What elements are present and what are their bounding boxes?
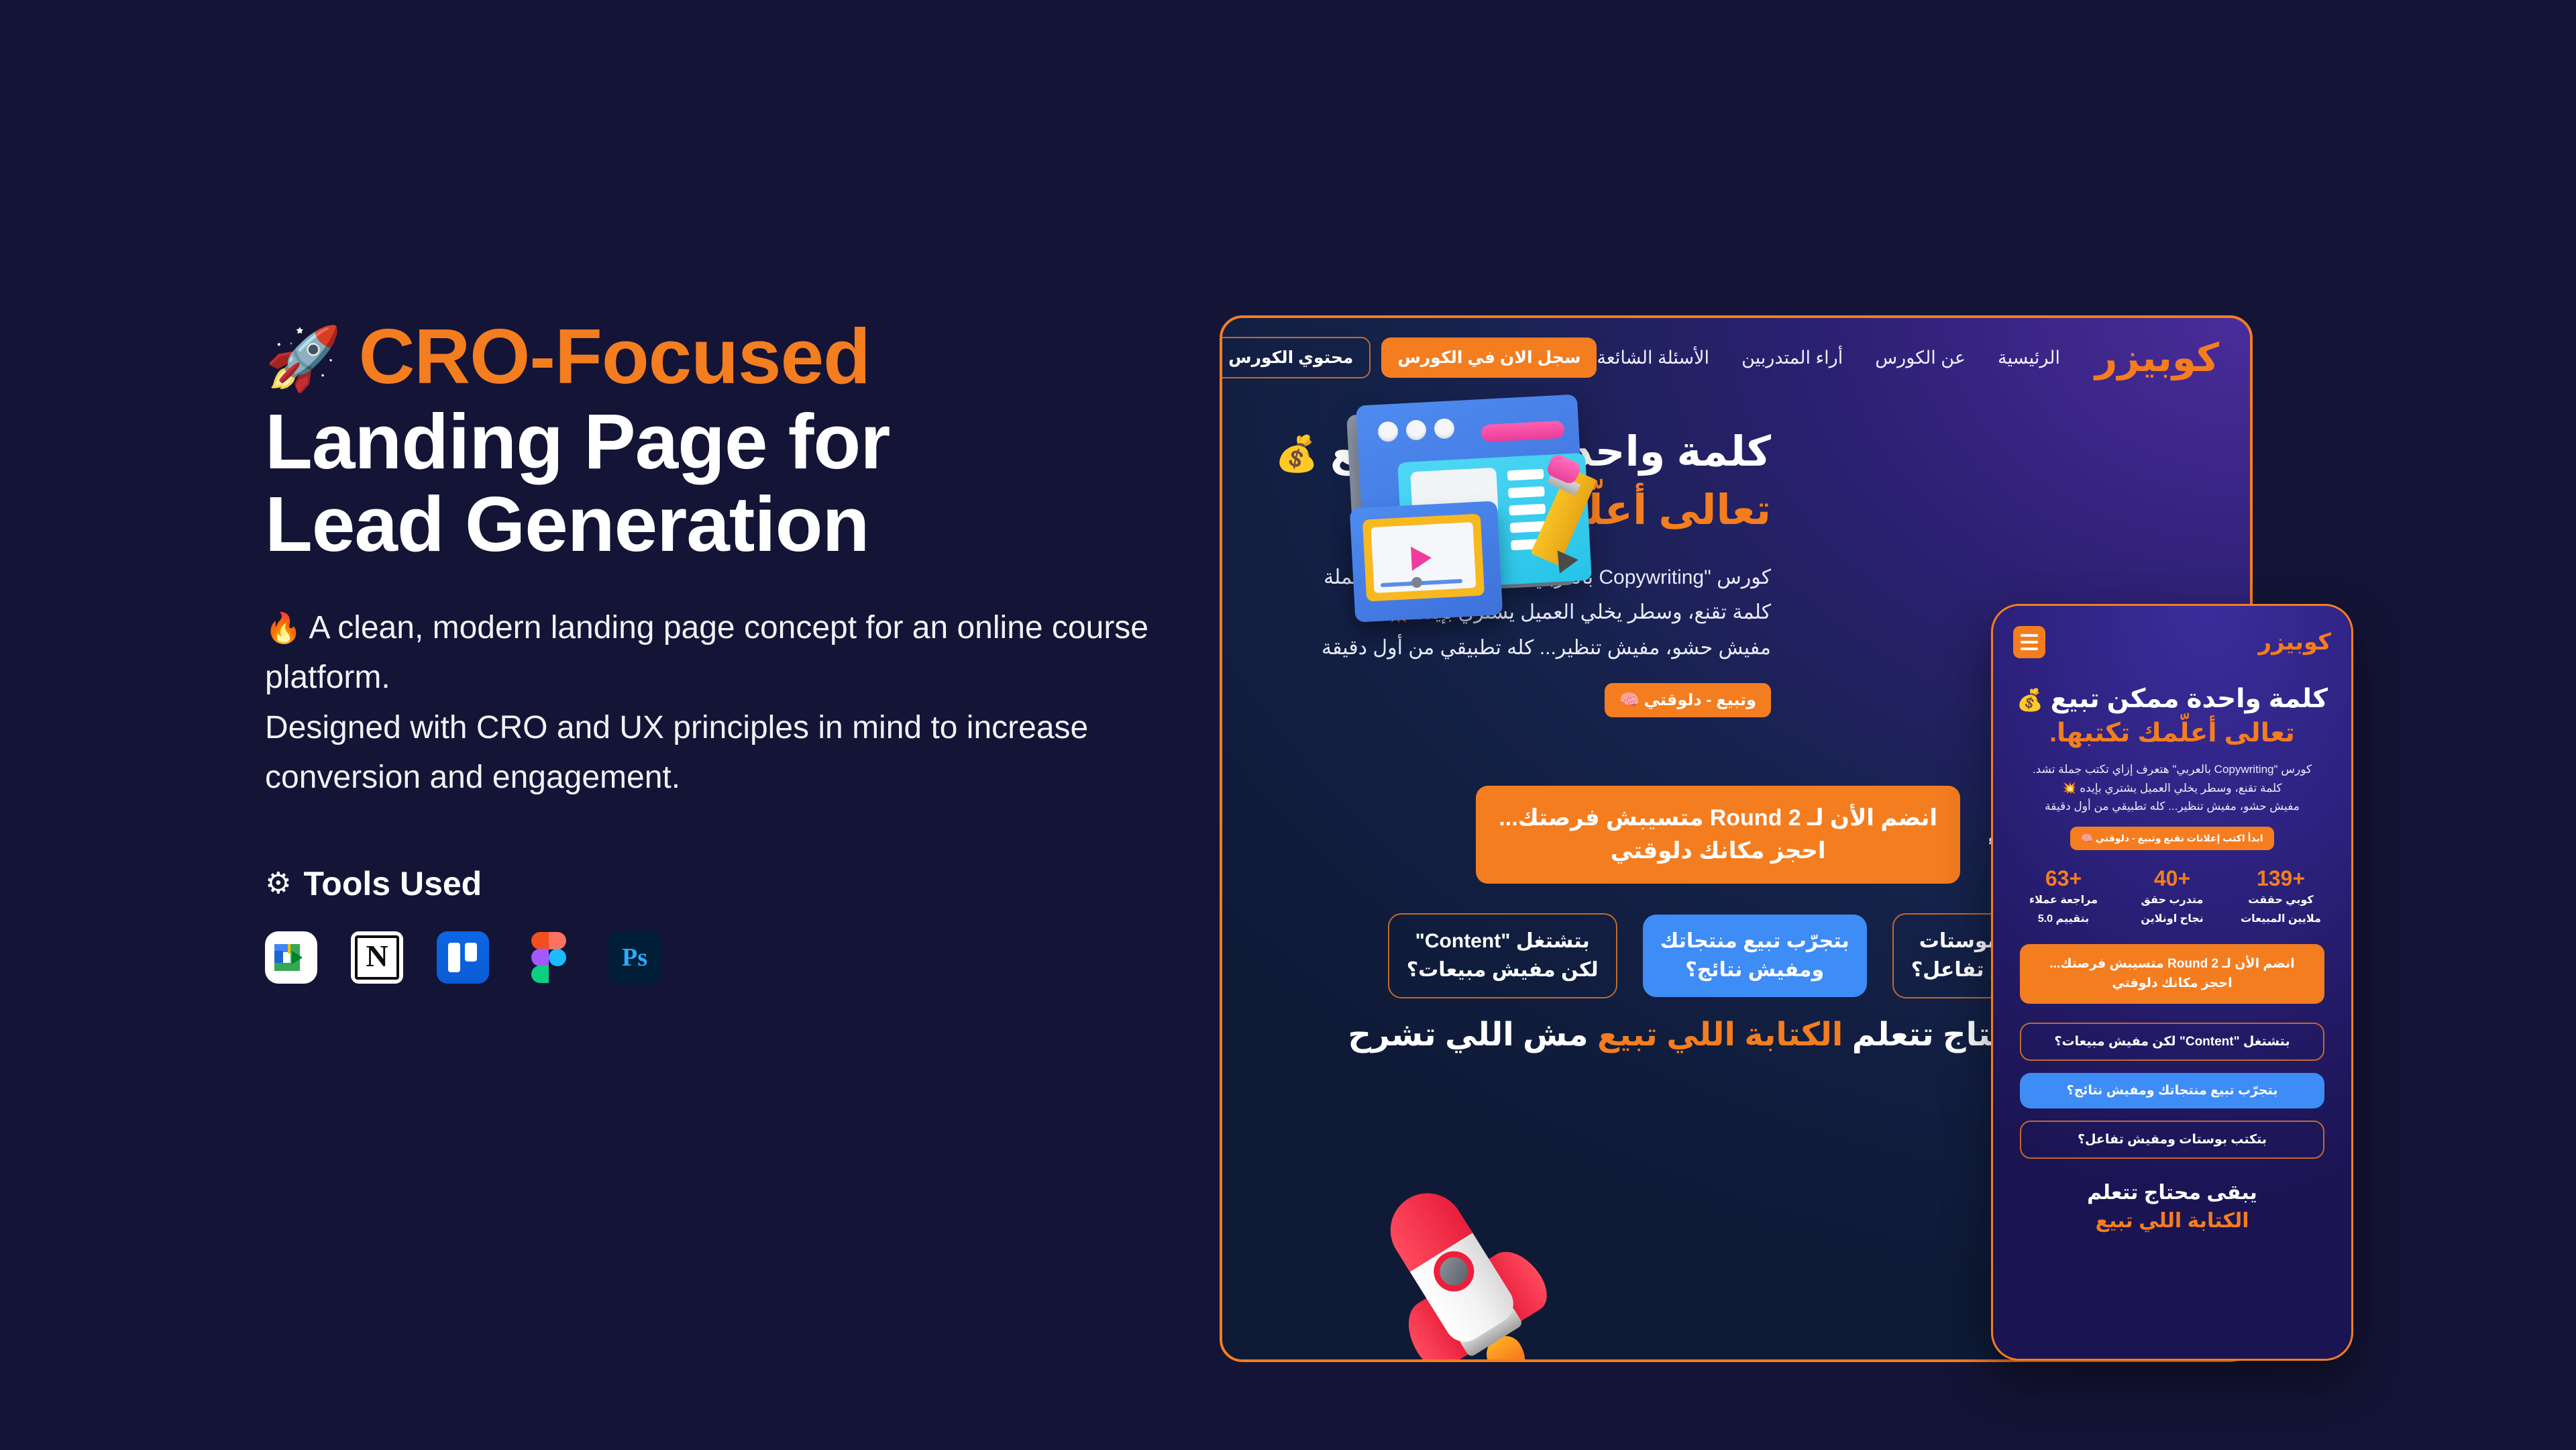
money-bag-icon: 💰 xyxy=(2017,688,2043,712)
mobile-hero-badge: ابدأ اكتب إعلانات تقنع وتبيع - دلوقتي 🧠 xyxy=(2070,827,2273,850)
mobile-hero: كلمة واحدة ممكن تبيع 💰 تعالى أعلّمك تكتب… xyxy=(1993,678,2351,850)
hero-badge: وتبيع - دلوقتي 🧠 xyxy=(1605,683,1771,717)
rocket-3d-illustration xyxy=(1318,1140,1595,1362)
hamburger-icon[interactable] xyxy=(2013,626,2045,658)
mobile-mockup: كوبيزر كلمة واحدة ممكن تبيع 💰 تعالى أعلّ… xyxy=(1991,604,2353,1361)
mobile-stat-reviews: +63 مراجعة عملاء بتقييم 5.0 xyxy=(2009,868,2118,927)
notion-glyph: N xyxy=(366,941,388,972)
title-line-2: Landing Page for xyxy=(265,401,1218,483)
mobile-stats-row: +139 كوبي حققت ملايين المبيعات +40 متدرب… xyxy=(1993,868,2351,927)
gear-icon: ⚙ xyxy=(265,869,291,898)
mobile-section-title: يبقى محتاج تتعلم الكتابة اللي تبيع xyxy=(1993,1179,2351,1235)
promo-description: 🔥 A clean, modern landing page concept f… xyxy=(265,603,1218,803)
nav-item-home[interactable]: الرئيسية xyxy=(1998,348,2060,368)
chip-content-no-sales[interactable]: بتشتغل "Content" لكن مفيش مبيعات؟ xyxy=(1388,913,1617,998)
mobile-brand-logo: كوبيزر xyxy=(2259,629,2331,656)
mobile-hero-line-2: تعالى أعلّمك تكتبها. xyxy=(2010,717,2334,749)
photoshop-icon: Ps xyxy=(608,931,661,984)
mobile-pain-point-chips: بتشتغل "Content" لكن مفيش مبيعات؟ بتجرّب… xyxy=(2020,1023,2324,1159)
join-round-2-button[interactable]: انضم الأن لـ Round 2 متسيبش فرصتك... احج… xyxy=(1476,786,1960,884)
tools-list: N Ps xyxy=(265,931,1218,984)
brand-logo: كوبيزر xyxy=(2095,335,2219,380)
mobile-join-button[interactable]: انضم الأن لـ Round 2 متسيبش فرصتك... احج… xyxy=(2020,944,2324,1004)
title-accent: CRO-Focused xyxy=(359,315,870,398)
tools-used-label: Tools Used xyxy=(303,864,482,903)
money-bag-icon: 💰 xyxy=(1275,435,1319,474)
tools-used-heading: ⚙ Tools Used xyxy=(265,864,1218,903)
promo-description-line-2: Designed with CRO and UX principles in m… xyxy=(265,710,1088,795)
mobile-stat-copy-sales: +139 كوبي حققت ملايين المبيعات xyxy=(2226,868,2335,927)
hero-illustration xyxy=(1336,345,1625,613)
course-3d-illustration xyxy=(1336,345,1625,613)
figma-icon xyxy=(523,931,575,984)
hero-paragraph-line-3: مفيش حشو، مفيش تنظير... كله تطبيقي من أو… xyxy=(1222,631,1771,666)
fire-icon: 🔥 xyxy=(265,612,302,645)
cta-line-1: انضم الأن لـ Round 2 متسيبش فرصتك... xyxy=(1499,805,1937,831)
photoshop-glyph: Ps xyxy=(622,945,647,970)
nav-item-about-course[interactable]: عن الكورس xyxy=(1875,348,1966,368)
google-meet-icon xyxy=(265,931,317,984)
mobile-topbar: كوبيزر xyxy=(1993,606,2351,678)
mobile-chip-selling-no-results[interactable]: بتجرّب تبيع منتجاتك ومفيش نتائج؟ xyxy=(2020,1073,2324,1108)
promo-description-line-1: A clean, modern landing page concept for… xyxy=(265,610,1148,695)
mobile-chip-content-no-sales[interactable]: بتشتغل "Content" لكن مفيش مبيعات؟ xyxy=(2020,1023,2324,1061)
notion-icon: N xyxy=(351,931,403,984)
mobile-hero-line-1: كلمة واحدة ممكن تبيع 💰 xyxy=(2010,682,2334,715)
promo-panel: 🚀 CRO-Focused Landing Page for Lead Gene… xyxy=(265,315,1218,984)
cta-line-2: احجز مكانك دلوقتي xyxy=(1611,838,1826,864)
page-title: 🚀 CRO-Focused Landing Page for Lead Gene… xyxy=(265,315,1218,566)
nav-links: الرئيسية عن الكورس أراء المتدربين الأسئل… xyxy=(1597,348,2060,368)
nav-item-testimonials[interactable]: أراء المتدربين xyxy=(1741,348,1843,368)
chip-selling-no-results[interactable]: بتجرّب تبيع منتجاتك ومفيش نتائج؟ xyxy=(1643,915,1867,997)
mobile-hero-paragraph: كورس "Copywriting بالعربي" هتعرف إزاي تك… xyxy=(2010,760,2334,816)
rocket-icon: 🚀 xyxy=(265,328,341,390)
trello-icon xyxy=(437,931,489,984)
mobile-chip-posts-no-engagement[interactable]: بتكتب بوستات ومفيش تفاعل؟ xyxy=(2020,1121,2324,1159)
title-line-3: Lead Generation xyxy=(265,483,1218,566)
mobile-stat-trainees: +40 متدرب حقق نجاح اونلاين xyxy=(2118,868,2226,927)
